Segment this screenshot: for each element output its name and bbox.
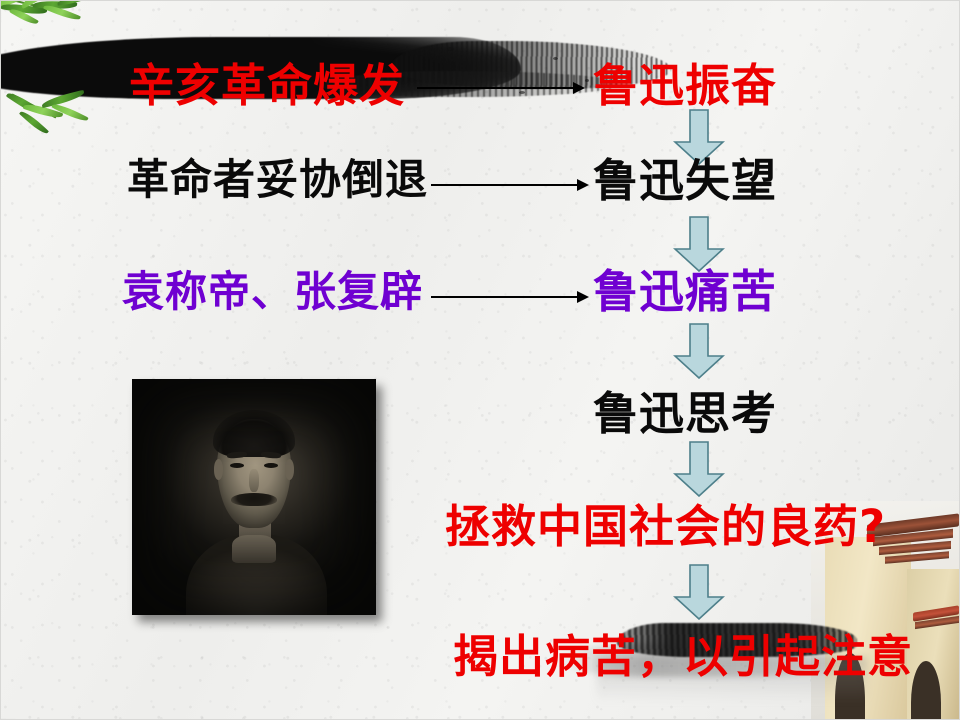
node-left-revolution-breaks-out: 辛亥革命爆发	[129, 63, 405, 108]
horizontal-arrow-3	[431, 290, 591, 304]
slide-canvas: 辛亥革命爆发 革命者妥协倒退 袁称帝、张复辟 鲁迅振奋 鲁迅失望 鲁迅痛苦 鲁迅…	[0, 0, 960, 720]
down-arrow-2	[673, 216, 725, 272]
node-right-luxun-excited: 鲁迅振奋	[593, 63, 777, 108]
node-right-luxun-disappointed: 鲁迅失望	[593, 158, 777, 203]
node-right-expose-suffering: 揭出病苦，以引起注意	[453, 634, 913, 679]
node-right-luxun-painful: 鲁迅痛苦	[593, 269, 777, 314]
down-arrow-4	[673, 441, 725, 497]
node-left-revolutionaries-compromise: 革命者妥协倒退	[127, 159, 428, 201]
portrait-vignette	[132, 379, 376, 615]
horizontal-arrow-2	[431, 178, 591, 192]
node-right-luxun-thinking: 鲁迅思考	[593, 391, 777, 436]
horizontal-arrow-1	[417, 81, 587, 95]
lu-xun-portrait	[132, 379, 376, 615]
down-arrow-3	[673, 323, 725, 379]
down-arrow-5	[673, 564, 725, 620]
node-right-remedy-question: 拯救中国社会的良药?	[445, 504, 886, 549]
node-left-yuan-zhang-restoration: 袁称帝、张复辟	[122, 271, 423, 313]
